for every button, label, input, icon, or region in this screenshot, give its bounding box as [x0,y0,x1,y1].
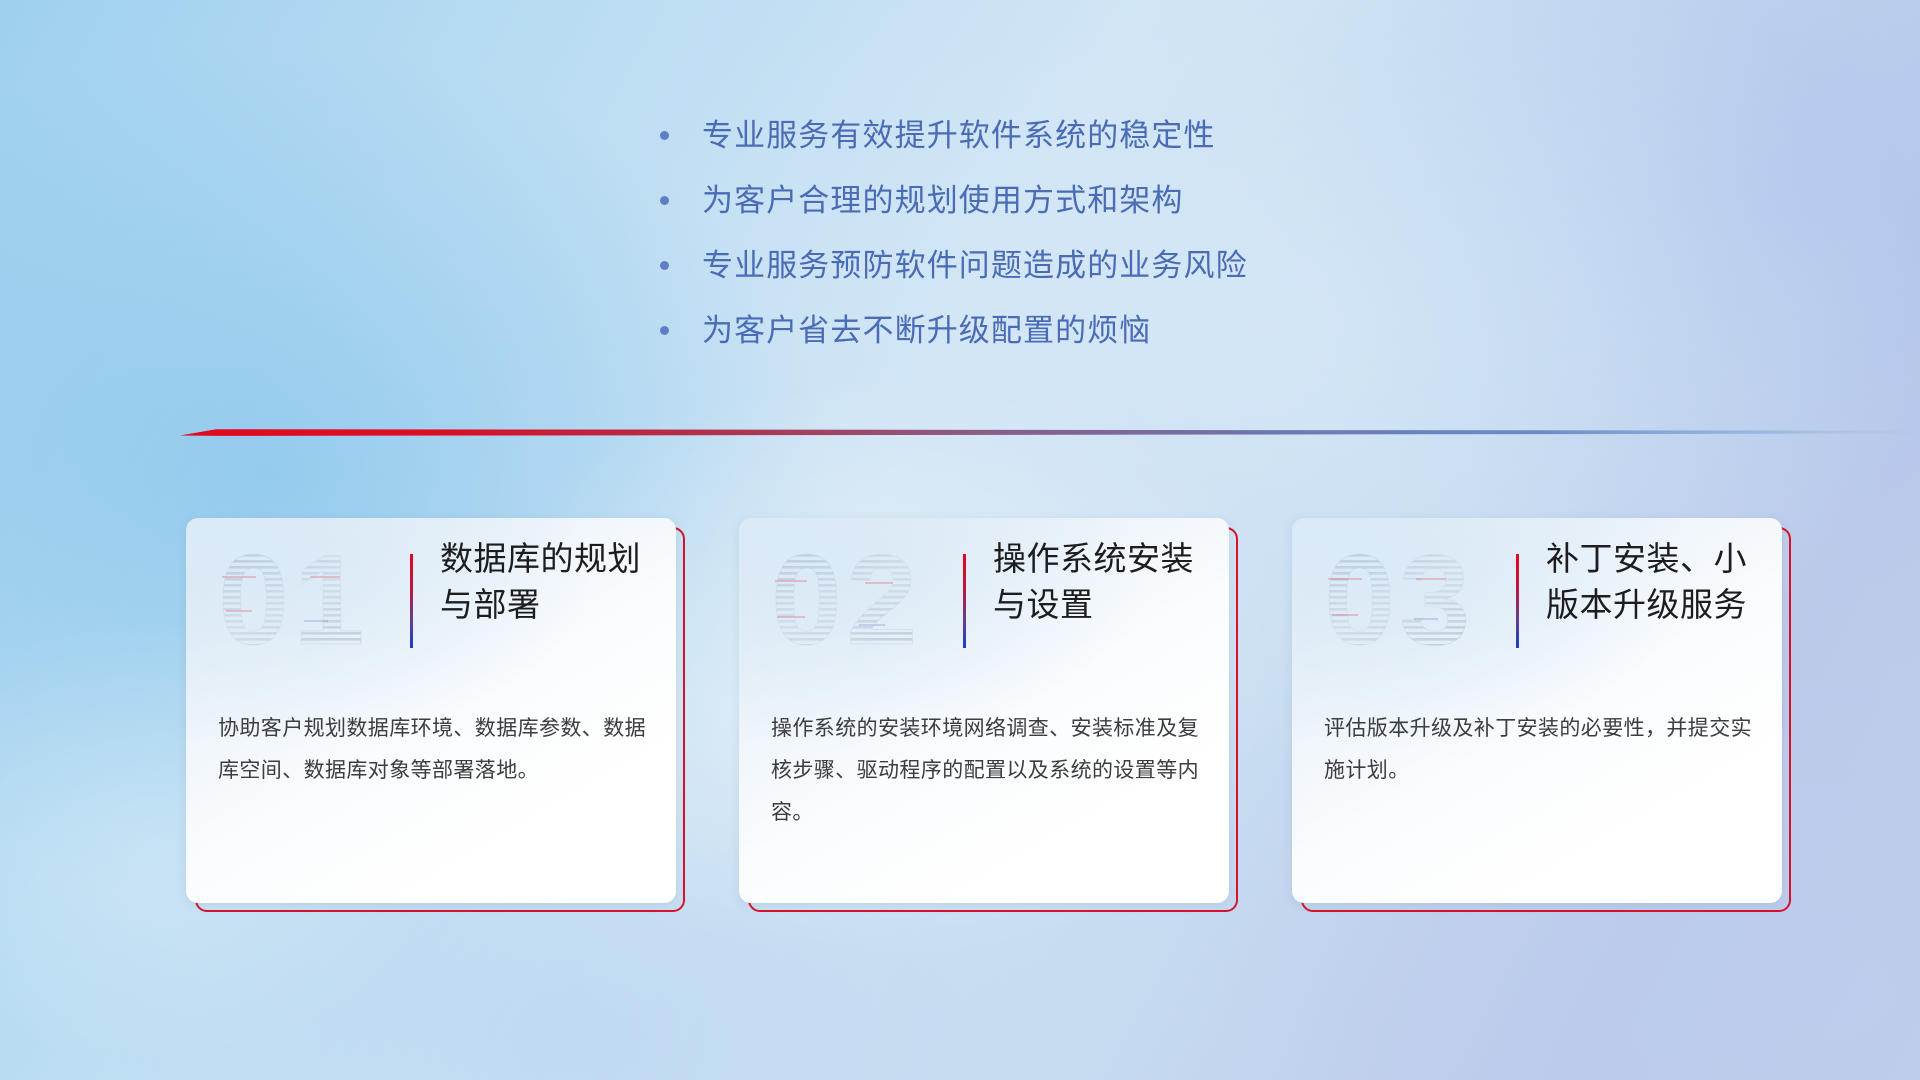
bullet-text: 为客户省去不断升级配置的烦恼 [702,315,1151,346]
striped-number-icon: 02 02 [771,536,941,668]
card-body: 02 02 操作系统安装与设置 [739,518,1229,903]
card-body: 01 01 数据库的规划与部署 [186,518,676,903]
svg-text:03: 03 [1324,536,1474,668]
svg-text:02: 02 [771,536,921,668]
bullet-text: 专业服务有效提升软件系统的稳定性 [702,120,1216,151]
card-header: 03 03 补丁安装、小版本升级服务 [1292,518,1782,686]
service-card[interactable]: 02 02 操作系统安装与设置 [739,518,1229,903]
card-title-separator [410,554,413,648]
divider-shape-icon [180,424,1920,440]
card-description: 协助客户规划数据库环境、数据库参数、数据库空间、数据库对象等部署落地。 [218,708,648,792]
bullet-dot-icon [660,326,669,335]
card-header: 02 02 操作系统安装与设置 [739,518,1229,686]
benefit-bullet-list: 专业服务有效提升软件系统的稳定性 为客户合理的规划使用方式和架构 专业服务预防软… [660,103,1248,363]
card-title-separator [1516,554,1519,648]
bullet-text: 专业服务预防软件问题造成的业务风险 [702,250,1248,281]
bullet-text: 为客户合理的规划使用方式和架构 [702,185,1184,216]
striped-number-icon: 01 01 [218,536,388,668]
bullet-dot-icon [660,196,669,205]
card-number-watermark: 01 01 [218,536,388,668]
service-card[interactable]: 03 03 补丁安装、小版本升级服务 [1292,518,1782,903]
section-divider [180,424,1920,440]
card-title: 数据库的规划与部署 [440,536,662,628]
list-item: 为客户合理的规划使用方式和架构 [660,168,1248,233]
bullet-dot-icon [660,131,669,140]
card-number-watermark: 02 02 [771,536,941,668]
svg-text:01: 01 [218,536,368,668]
striped-number-icon: 03 03 [1324,536,1494,668]
card-body: 03 03 补丁安装、小版本升级服务 [1292,518,1782,903]
list-item: 专业服务预防软件问题造成的业务风险 [660,233,1248,298]
bullet-dot-icon [660,261,669,270]
card-header: 01 01 数据库的规划与部署 [186,518,676,686]
card-description: 评估版本升级及补丁安装的必要性，并提交实施计划。 [1324,708,1754,792]
card-description: 操作系统的安装环境网络调查、安装标准及复核步骤、驱动程序的配置以及系统的设置等内… [771,708,1201,834]
service-card-list: 01 01 数据库的规划与部署 [186,518,1782,903]
list-item: 专业服务有效提升软件系统的稳定性 [660,103,1248,168]
card-title: 补丁安装、小版本升级服务 [1546,536,1768,628]
card-title: 操作系统安装与设置 [993,536,1215,628]
service-card[interactable]: 01 01 数据库的规划与部署 [186,518,676,903]
slide-canvas: 专业服务有效提升软件系统的稳定性 为客户合理的规划使用方式和架构 专业服务预防软… [0,0,1920,1080]
list-item: 为客户省去不断升级配置的烦恼 [660,298,1248,363]
card-title-separator [963,554,966,648]
card-number-watermark: 03 03 [1324,536,1494,668]
